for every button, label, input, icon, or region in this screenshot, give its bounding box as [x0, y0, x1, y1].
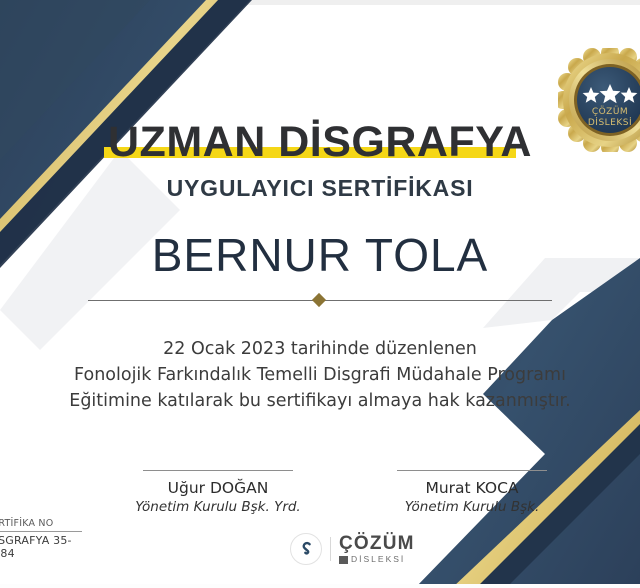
certificate-canvas: ÇÖZÜM DİSLEKSİ UZMAN DİSGRAFYA UYGULAYIC…	[0, 0, 640, 588]
signature-line	[143, 470, 293, 471]
body-line-3: Eğitimine katılarak bu sertifikayı almay…	[60, 388, 580, 414]
certificate-number-label: SERTİFİKA NO	[0, 518, 96, 529]
gold-award-seal-icon: ÇÖZÜM DİSLEKSİ	[558, 48, 640, 152]
certificate-subtitle: UYGULAYICI SERTİFİKASI	[0, 175, 640, 202]
signatory-role: Yönetim Kurulu Bşk.	[372, 499, 572, 515]
signatory-name: Uğur DOĞAN	[118, 479, 318, 497]
signatory-name: Murat KOCA	[372, 479, 572, 497]
certificate-body-text: 22 Ocak 2023 tarihinde düzenlenen Fonolo…	[60, 336, 580, 414]
body-line-2: Fonolojik Farkındalık Temelli Disgrafi M…	[60, 362, 580, 388]
page-title: UZMAN DİSGRAFYA	[108, 121, 532, 164]
swirl-s-icon	[290, 533, 322, 565]
signature-block-right: Murat KOCA Yönetim Kurulu Bşk.	[372, 470, 572, 515]
svg-text:DİSLEKSİ: DİSLEKSİ	[588, 117, 632, 128]
logo-text: ÇÖZÜM DİSLEKSİ	[339, 534, 415, 564]
certificate-number-block: SERTİFİKA NO DİSGRAFYA 35-1484	[0, 518, 96, 560]
logo-subtitle-row: DİSLEKSİ	[339, 555, 415, 564]
svg-text:ÇÖZÜM: ÇÖZÜM	[592, 106, 628, 117]
body-line-1: 22 Ocak 2023 tarihinde düzenlenen	[60, 336, 580, 362]
certificate-title-block: UZMAN DİSGRAFYA	[0, 121, 640, 164]
logo-divider	[330, 537, 331, 561]
signatory-role: Yönetim Kurulu Bşk. Yrd.	[118, 499, 318, 515]
organization-logo: ÇÖZÜM DİSLEKSİ	[290, 532, 415, 566]
signature-block-left: Uğur DOĞAN Yönetim Kurulu Bşk. Yrd.	[118, 470, 318, 515]
logo-subtitle: DİSLEKSİ	[351, 555, 405, 564]
bottom-edge-band	[0, 584, 640, 588]
logo-brand: ÇÖZÜM	[339, 534, 415, 553]
certificate-number-rule	[0, 531, 82, 532]
signature-line	[397, 470, 547, 471]
certificate-number-value: DİSGRAFYA 35-1484	[0, 534, 96, 560]
logo-square-icon	[339, 556, 348, 564]
section-divider	[88, 299, 552, 301]
recipient-name: BERNUR TOLA	[0, 228, 640, 282]
